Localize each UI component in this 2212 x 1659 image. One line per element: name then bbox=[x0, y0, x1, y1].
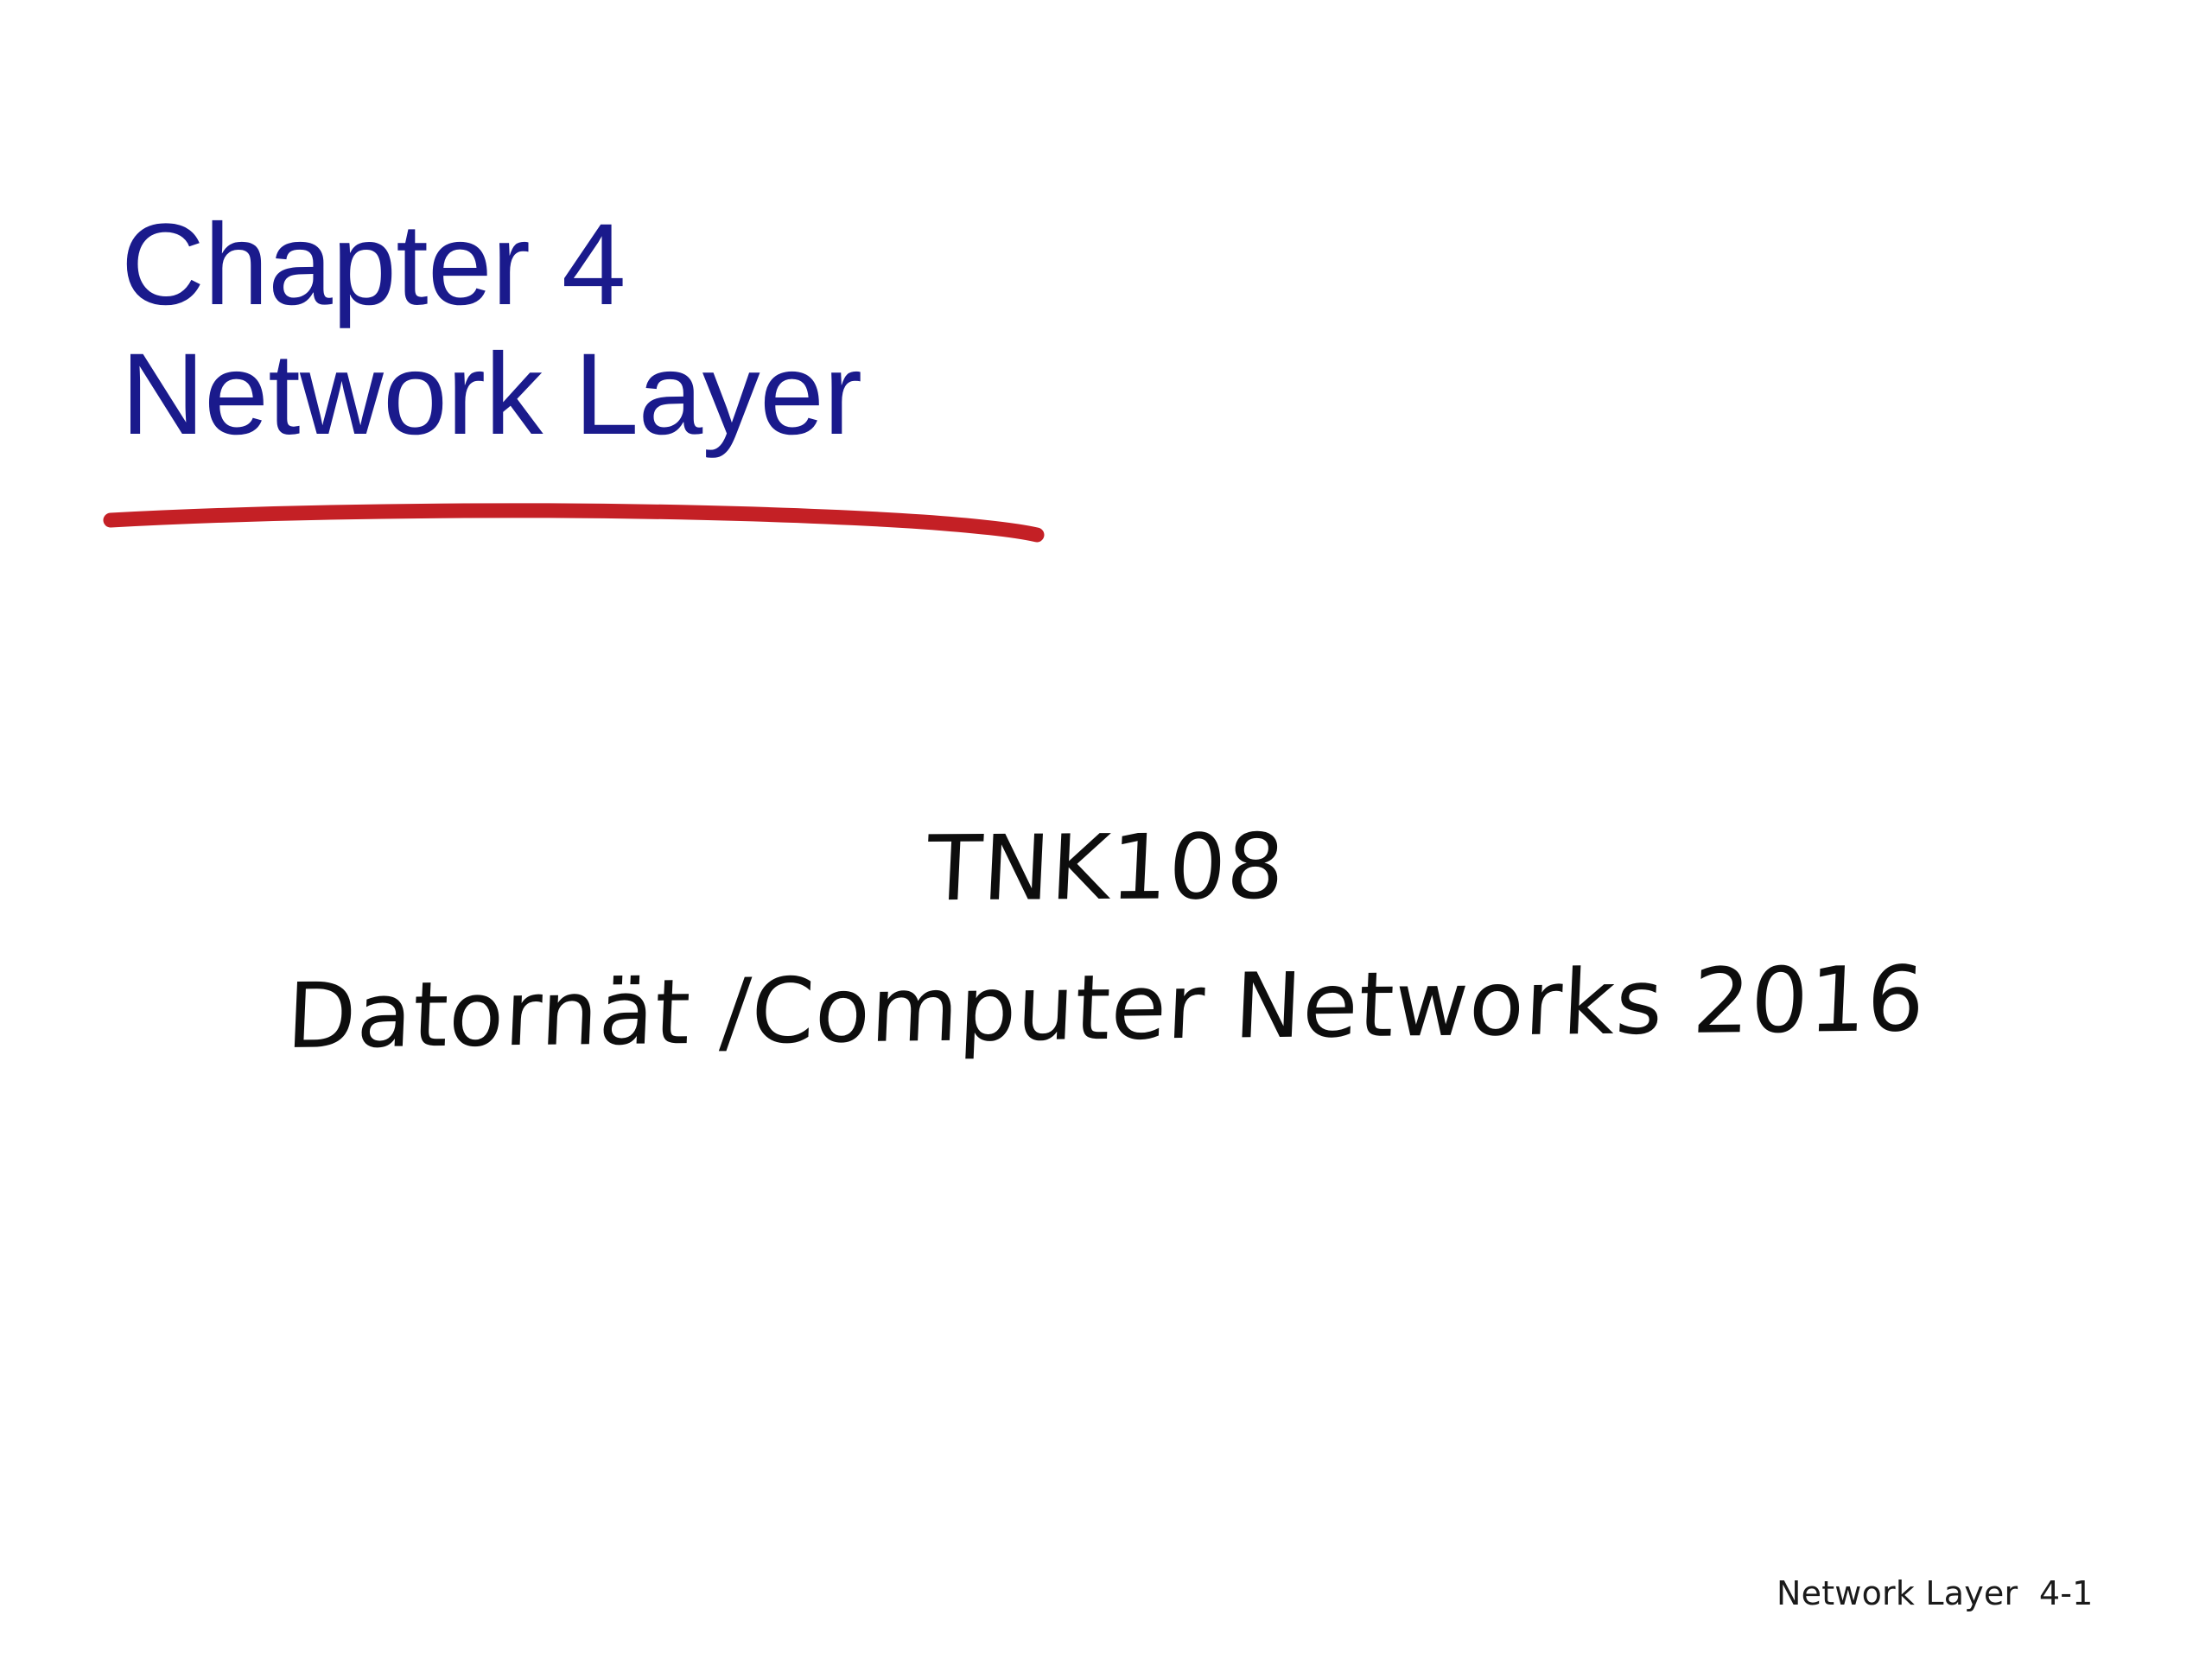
slide-footer: Network Layer 4-1 bbox=[1777, 1574, 2094, 1614]
red-underline-stroke bbox=[102, 489, 1070, 558]
course-title-block: TNK108 Datornät /Computer Networks 2016 bbox=[0, 823, 2212, 1052]
title-line-network-layer: Network Layer bbox=[121, 330, 1503, 460]
course-name: Datornät /Computer Networks 2016 bbox=[0, 951, 2212, 1065]
title-line-chapter: Chapter 4 bbox=[121, 200, 1503, 330]
page-title: Chapter 4 Network Layer bbox=[121, 200, 1503, 460]
underline-icon bbox=[102, 489, 1070, 558]
course-code: TNK108 bbox=[0, 816, 2212, 919]
slide-canvas: Chapter 4 Network Layer TNK108 Datornät … bbox=[0, 0, 2212, 1659]
